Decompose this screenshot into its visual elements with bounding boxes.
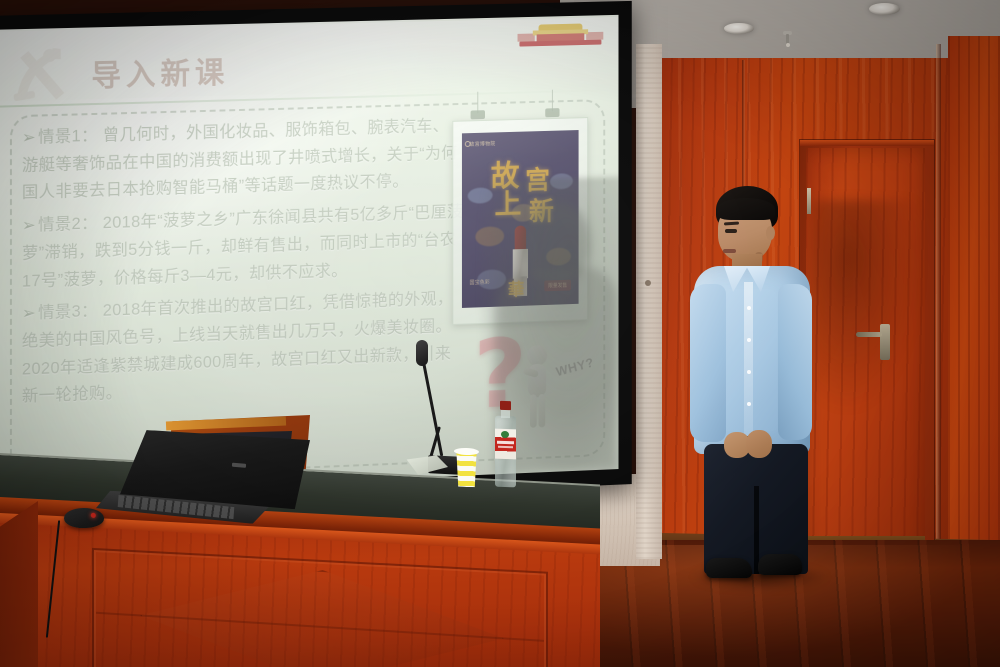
pilaster-knob (645, 280, 651, 286)
slide-paragraph-1-text: 情景1： 曾几何时，外国化妆品、服饰箱包、腕表汽车、游艇等奢饰品在中国的消费额出… (22, 117, 458, 202)
mouse-led-icon (91, 513, 96, 518)
paper-cup (455, 451, 478, 488)
gooseneck-microphone (398, 340, 458, 470)
presenter-ear (766, 226, 775, 240)
tiananmen-gate-icon (516, 21, 606, 49)
slide-paragraph-3-text: 情景3： 2018年首次推出的故宫口红，凭借惊艳的外观，绝美的中国风色号，上线当… (22, 290, 453, 406)
poster-brand: 故宫博物院 (470, 140, 496, 148)
lectern-side-panel (0, 498, 38, 667)
wood-panel-wall-far (948, 36, 1000, 556)
presenter-mouth (723, 249, 736, 253)
laptop[interactable] (96, 428, 311, 528)
poster-hanger-icon (471, 110, 485, 119)
door-lever-handle-icon[interactable] (856, 332, 882, 337)
slide-paragraph-2: ➢情景2： 2018年“菠萝之乡”广东徐闻县共有5亿多斤“巴厘菠萝”滞销，跌到5… (22, 199, 464, 296)
presenter-eye (725, 229, 737, 233)
presenter-left-sleeve (690, 284, 726, 442)
projection-screen-frame: 导入新课 ➢情景1： 曾几何时，外国化妆品、服饰箱包、腕表汽车、游艇等奢饰品在中… (0, 1, 632, 512)
slide-paragraph-2-text: 情景2： 2018年“菠萝之乡”广东徐闻县共有5亿多斤“巴厘菠萝”滞销，跌到5分… (22, 203, 463, 290)
presenter-hair-front (717, 198, 775, 220)
microphone-capsule-icon (416, 340, 428, 366)
presenter (684, 186, 844, 578)
slide-paragraph-1: ➢情景1： 曾几何时，外国化妆品、服饰箱包、腕表汽车、游艇等奢饰品在中国的消费额… (22, 113, 464, 208)
poster-hanger-icon (545, 108, 559, 117)
door-handle-plate[interactable] (880, 324, 890, 360)
bottle-logo-icon (501, 431, 509, 438)
door-top-trim (800, 140, 934, 146)
presenter-left-shoe (706, 558, 752, 578)
photo-scene: 导入新课 ➢情景1： 曾几何时，外国化妆品、服饰箱包、腕表汽车、游艇等奢饰品在中… (0, 0, 1000, 667)
fire-sprinkler-icon (783, 31, 792, 47)
slide-title: 导入新课 (91, 48, 229, 95)
presenter-right-shoe (758, 554, 802, 575)
downlight-icon (869, 3, 900, 15)
presenter-right-sleeve (778, 284, 812, 440)
bottle-cap (500, 401, 511, 410)
water-bottle (494, 401, 517, 488)
wall-pilaster (636, 44, 662, 559)
presenter-right-hand (746, 430, 772, 458)
computer-mouse[interactable] (63, 508, 104, 529)
downlight-icon (724, 23, 754, 34)
wall-corner (936, 44, 941, 556)
